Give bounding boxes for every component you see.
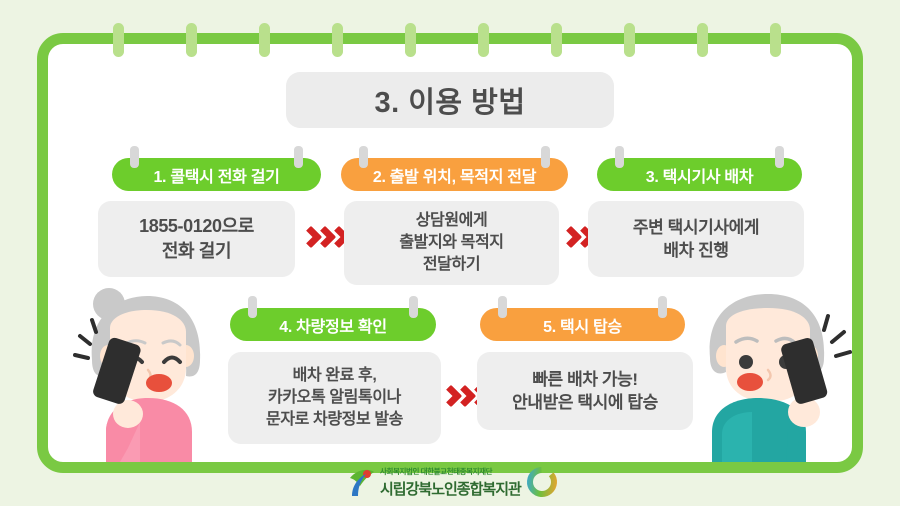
footer-sub-title: 사회복지법인 대한불교천태종복지재단 — [380, 466, 521, 477]
step-body-4-line-1: 배차 완료 후, — [293, 365, 377, 387]
footer-logo: 사회복지법인 대한불교천태종복지재단 시립강북노인종합복지관 — [348, 462, 563, 502]
chevron-right-icon — [443, 385, 456, 411]
chevron-right-icon — [303, 226, 316, 252]
color-ring-logo-icon — [525, 465, 559, 499]
page-title: 3. 이용 방법 — [286, 72, 614, 128]
arrow-1-to-2 — [303, 226, 344, 252]
clip-icon — [248, 296, 257, 318]
step-body-2: 상담원에게 출발지와 목적지 전달하기 — [344, 201, 559, 285]
step-body-2-line-3: 전달하기 — [423, 254, 480, 276]
illustration-elderly-man — [692, 282, 860, 467]
step-body-4: 배차 완료 후, 카카오톡 알림톡이나 문자로 차량정보 발송 — [228, 352, 441, 444]
clip-icon — [541, 146, 550, 168]
step-header-4-label: 4. 차량정보 확인 — [279, 313, 387, 337]
step-body-3: 주변 택시기사에게 배차 진행 — [588, 201, 804, 277]
clip-icon — [775, 146, 784, 168]
clip-icon — [130, 146, 139, 168]
step-body-2-line-2: 출발지와 목적지 — [399, 232, 503, 254]
step-body-5-line-2: 안내받은 택시에 탑승 — [512, 391, 658, 414]
clip-icon — [294, 146, 303, 168]
step-header-1-label: 1. 콜택시 전화 걸기 — [153, 163, 279, 187]
chevron-right-icon — [563, 226, 576, 252]
clip-icon — [409, 296, 418, 318]
step-header-5-label: 5. 택시 탑승 — [543, 313, 622, 337]
clip-icon — [359, 146, 368, 168]
step-body-1: 1855-0120으로 전화 걸기 — [98, 201, 295, 277]
step-header-1[interactable]: 1. 콜택시 전화 걸기 — [112, 158, 321, 191]
step-body-1-line-1: 1855-0120으로 — [139, 214, 254, 239]
binding-tabs — [0, 23, 900, 57]
step-body-5: 빠른 배차 가능! 안내받은 택시에 탑승 — [477, 352, 693, 430]
chevron-right-icon — [331, 226, 344, 252]
step-body-5-line-1: 빠른 배차 가능! — [532, 368, 637, 391]
step-header-3-label: 3. 택시기사 배차 — [646, 163, 754, 187]
step-body-3-line-2: 배차 진행 — [663, 239, 728, 262]
step-header-3[interactable]: 3. 택시기사 배차 — [597, 158, 802, 191]
step-header-5[interactable]: 5. 택시 탑승 — [480, 308, 685, 341]
green-leaf-logo-icon — [348, 466, 376, 498]
clip-icon — [615, 146, 624, 168]
step-body-3-line-1: 주변 택시기사에게 — [633, 216, 759, 239]
step-body-4-line-3: 문자로 차량정보 발송 — [266, 409, 403, 431]
step-header-2[interactable]: 2. 출발 위치, 목적지 전달 — [341, 158, 568, 191]
illustration-elderly-woman — [62, 282, 227, 467]
step-body-1-line-2: 전화 걸기 — [162, 239, 231, 264]
chevron-right-icon — [457, 385, 470, 411]
clip-icon — [658, 296, 667, 318]
step-body-4-line-2: 카카오톡 알림톡이나 — [268, 387, 401, 409]
chevron-right-icon — [317, 226, 330, 252]
clip-icon — [498, 296, 507, 318]
step-header-4[interactable]: 4. 차량정보 확인 — [230, 308, 436, 341]
footer-org-name: 시립강북노인종합복지관 — [380, 478, 521, 499]
step-header-2-label: 2. 출발 위치, 목적지 전달 — [373, 163, 536, 187]
page-title-text: 3. 이용 방법 — [374, 79, 525, 121]
poster-canvas: 3. 이용 방법 1. 콜택시 전화 걸기 1855-0120으로 전화 걸기 … — [0, 0, 900, 506]
step-body-2-line-1: 상담원에게 — [416, 210, 488, 232]
